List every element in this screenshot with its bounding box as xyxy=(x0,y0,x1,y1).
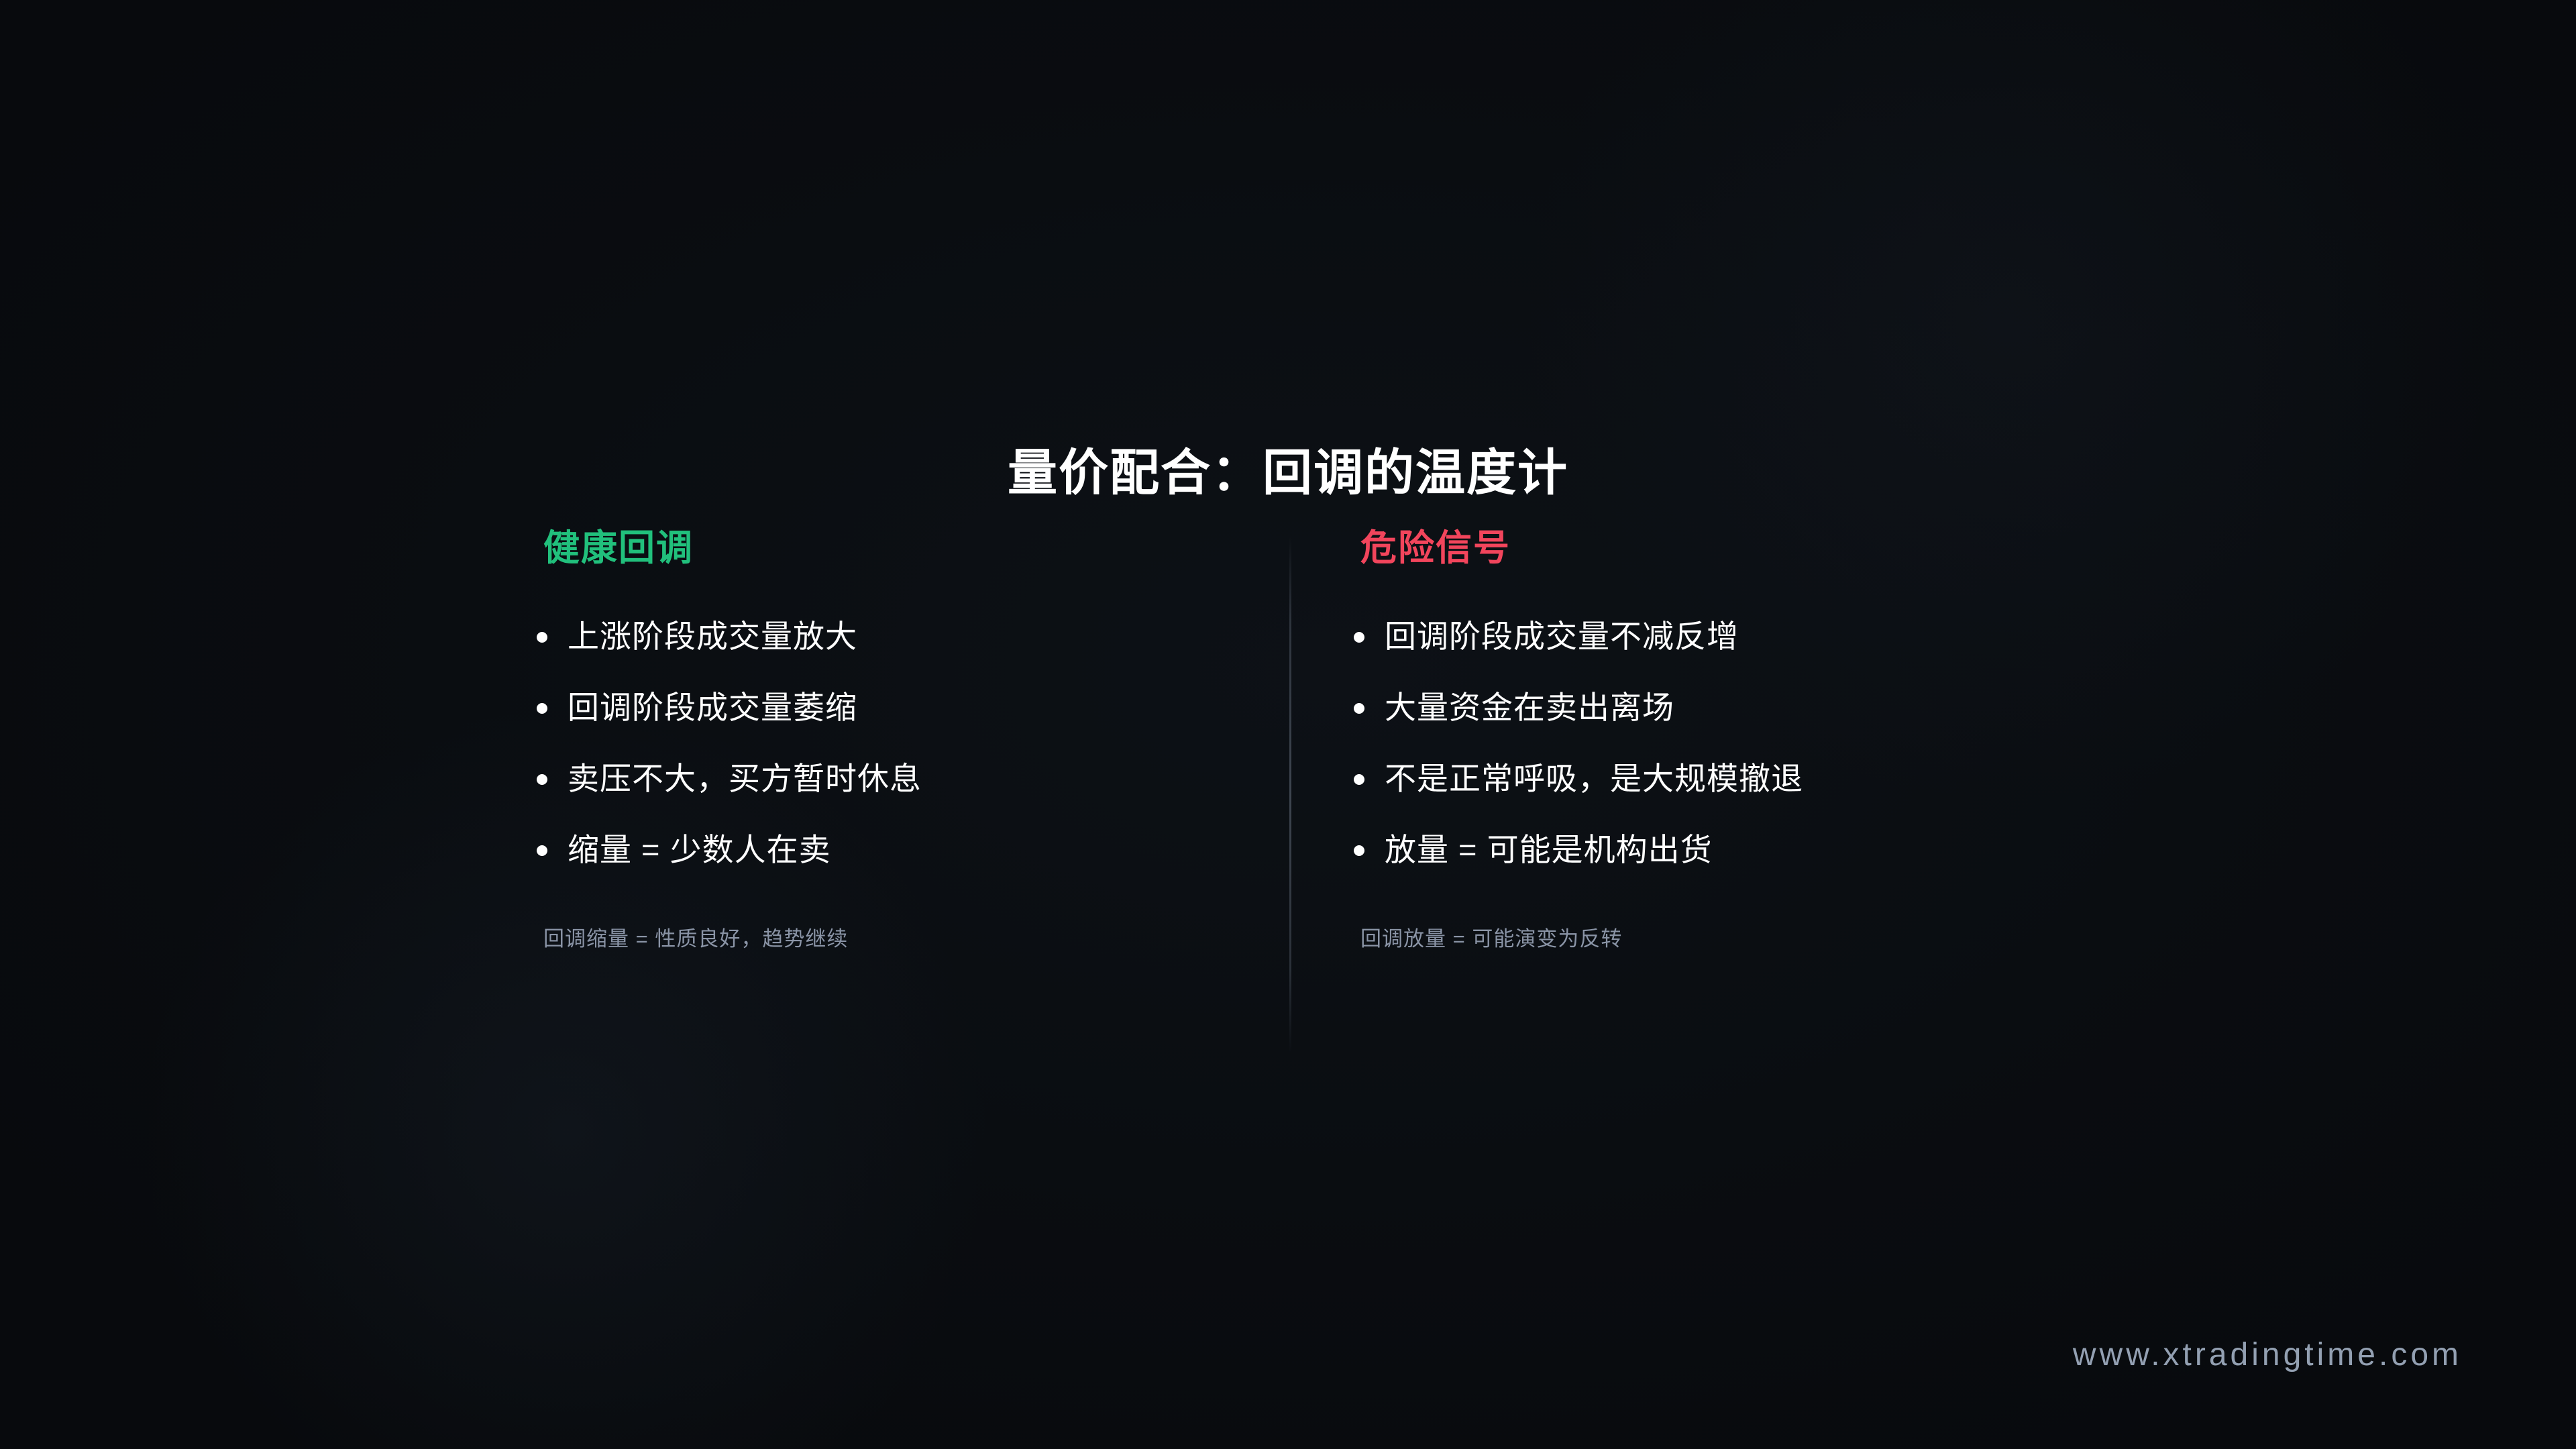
list-item: 回调阶段成交量不减反增 xyxy=(1354,619,2092,655)
list-item: 回调阶段成交量萎缩 xyxy=(537,690,1275,726)
page-title: 量价配合：回调的温度计 xyxy=(0,445,2576,500)
list-item: 卖压不大，买方暂时休息 xyxy=(537,761,1275,797)
list-item: 上涨阶段成交量放大 xyxy=(537,619,1275,655)
column-heading-healthy: 健康回调 xyxy=(543,530,1275,566)
bullet-dot-icon xyxy=(537,703,547,714)
bullet-text: 上涨阶段成交量放大 xyxy=(568,619,857,655)
site-watermark: www.xtradingtime.com xyxy=(2073,1336,2462,1373)
column-note-danger: 回调放量 = 可能演变为反转 xyxy=(1360,922,2092,952)
bullet-dot-icon xyxy=(1354,845,1364,856)
bullet-text: 回调阶段成交量萎缩 xyxy=(568,690,857,726)
bullet-text: 放量 = 可能是机构出货 xyxy=(1385,832,1713,868)
bullet-text: 不是正常呼吸，是大规模撤退 xyxy=(1385,761,1803,797)
bullet-text: 大量资金在卖出离场 xyxy=(1385,690,1674,726)
bullet-dot-icon xyxy=(1354,632,1364,643)
bullet-text: 卖压不大，买方暂时休息 xyxy=(568,761,922,797)
two-column-content: 健康回调 上涨阶段成交量放大 回调阶段成交量萎缩 卖压不大，买方暂时休息 缩量 … xyxy=(537,530,2046,952)
column-heading-danger: 危险信号 xyxy=(1360,530,2092,566)
column-healthy-pullback: 健康回调 上涨阶段成交量放大 回调阶段成交量萎缩 卖压不大，买方暂时休息 缩量 … xyxy=(537,530,1275,952)
list-item: 缩量 = 少数人在卖 xyxy=(537,832,1275,868)
list-item: 放量 = 可能是机构出货 xyxy=(1354,832,2092,868)
bullet-dot-icon xyxy=(537,774,547,785)
bullet-dot-icon xyxy=(537,632,547,643)
bullet-list-danger: 回调阶段成交量不减反增 大量资金在卖出离场 不是正常呼吸，是大规模撤退 放量 =… xyxy=(1354,619,2092,868)
bullet-text: 回调阶段成交量不减反增 xyxy=(1385,619,1739,655)
list-item: 不是正常呼吸，是大规模撤退 xyxy=(1354,761,2092,797)
list-item: 大量资金在卖出离场 xyxy=(1354,690,2092,726)
column-note-healthy: 回调缩量 = 性质良好，趋势继续 xyxy=(543,922,1275,952)
bullet-dot-icon xyxy=(1354,774,1364,785)
column-danger-signal: 危险信号 回调阶段成交量不减反增 大量资金在卖出离场 不是正常呼吸，是大规模撤退… xyxy=(1337,530,2092,952)
bullet-dot-icon xyxy=(1354,703,1364,714)
bullet-dot-icon xyxy=(537,845,547,856)
bullet-text: 缩量 = 少数人在卖 xyxy=(568,832,831,868)
bullet-list-healthy: 上涨阶段成交量放大 回调阶段成交量萎缩 卖压不大，买方暂时休息 缩量 = 少数人… xyxy=(537,619,1275,868)
slide-root: 量价配合：回调的温度计 健康回调 上涨阶段成交量放大 回调阶段成交量萎缩 卖压不… xyxy=(0,0,2576,1449)
